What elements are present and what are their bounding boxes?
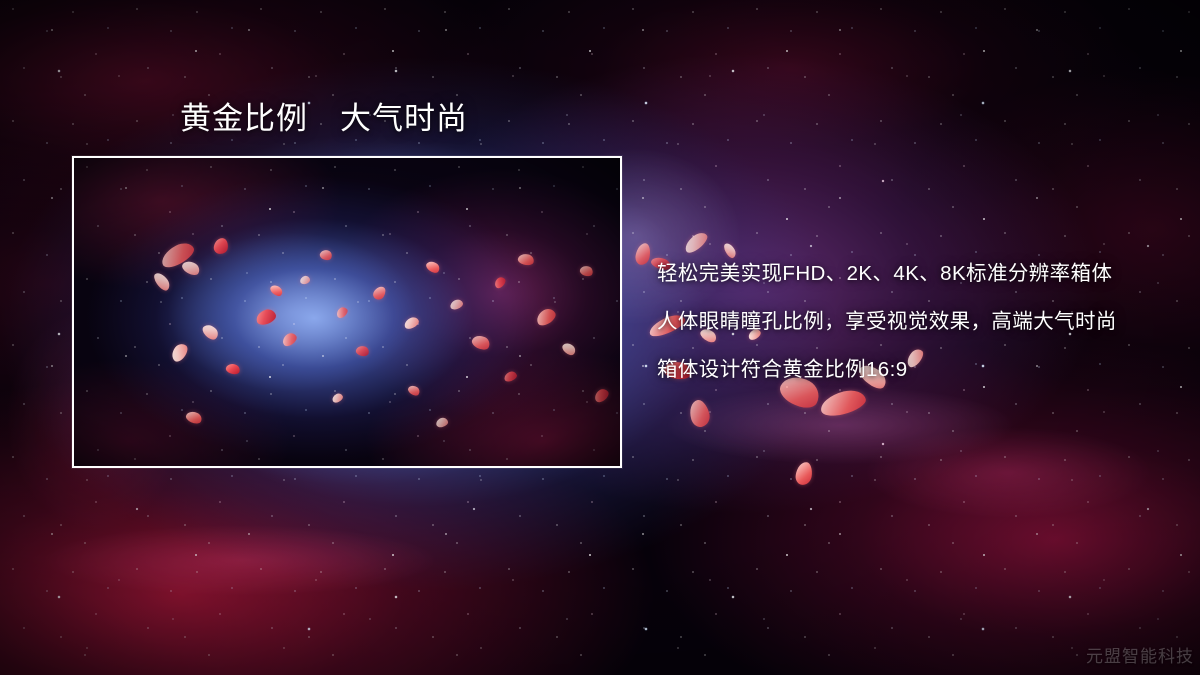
photo-vignette	[74, 158, 620, 466]
petal	[682, 229, 710, 255]
body-line-1: 轻松完美实现FHD、2K、4K、8K标准分辨率箱体	[657, 256, 1177, 286]
body-text-block: 轻松完美实现FHD、2K、4K、8K标准分辨率箱体 人体眼睛瞳孔比例，享受视觉效…	[657, 256, 1177, 382]
slide-title: 黄金比例 大气时尚	[180, 100, 468, 139]
petal	[634, 242, 652, 266]
petal	[794, 461, 813, 486]
photo-frame-16x9	[72, 156, 622, 468]
photo-frame-content	[74, 158, 620, 466]
petal	[818, 387, 868, 419]
watermark: 元盟智能科技	[1086, 642, 1194, 667]
petal	[687, 398, 713, 429]
body-line-3: 箱体设计符合黄金比例16:9	[657, 352, 1177, 382]
body-line-2: 人体眼睛瞳孔比例，享受视觉效果，高端大气时尚	[657, 304, 1177, 334]
presentation-slide: 黄金比例 大气时尚 轻松完美实现FHD、2K、4K、8K标准分辨率箱体 人体眼睛…	[0, 0, 1200, 675]
